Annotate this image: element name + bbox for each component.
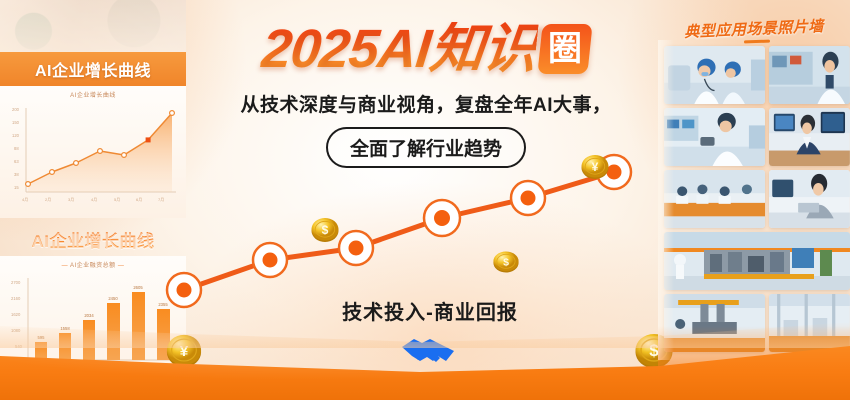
- svg-text:2月: 2月: [45, 197, 51, 202]
- svg-text:$: $: [503, 257, 509, 269]
- photo-hospital-device[interactable]: [664, 108, 765, 166]
- svg-text:200: 200: [12, 107, 20, 112]
- photo-medical-team[interactable]: [664, 46, 765, 104]
- svg-text:38: 38: [14, 172, 19, 177]
- svg-text:3月: 3月: [68, 197, 74, 202]
- svg-text:1620: 1620: [11, 312, 21, 317]
- headline-subtitle: 从技术深度与商业视角，复盘全年AI大事，: [186, 90, 666, 117]
- svg-text:5月: 5月: [114, 197, 120, 202]
- svg-text:63: 63: [14, 159, 19, 164]
- chart-card-line-body: AI企业增长曲线 200150 12088 6338: [0, 86, 186, 218]
- coin-dollar-1: $: [310, 215, 340, 245]
- chart-card-line-header: AI企业增长曲线: [0, 52, 186, 86]
- main-growth-line-chart: [160, 150, 700, 310]
- svg-text:¥: ¥: [592, 160, 599, 174]
- left-line-chart-svg: 200150 12088 6338 15 4月2月 3月4月 5月6月 7月: [6, 100, 180, 210]
- background-photo-strip: [0, 0, 186, 52]
- caption-text: 技术投入-商业回报: [250, 296, 610, 325]
- left-chart-column: AI企业增长曲线 AI企业增长曲线 200150: [0, 0, 186, 372]
- photo-wall-underline: [744, 40, 770, 44]
- title-main-text: 2025AI知识: [259, 22, 539, 76]
- coin-dollar-2: $: [492, 248, 520, 276]
- photo-open-office[interactable]: [664, 170, 765, 228]
- chart-card-line-title: AI企业增长曲线: [35, 57, 151, 81]
- chart-card-line-caption: AI企业增长曲线: [6, 90, 180, 99]
- photo-desk-work[interactable]: [769, 170, 850, 228]
- photo-office-analyst[interactable]: [769, 108, 850, 166]
- page-title: 2025AI知识 圈: [186, 22, 666, 76]
- photo-lab-engineer[interactable]: [769, 46, 850, 104]
- title-badge: 圈: [537, 24, 592, 74]
- svg-text:6月: 6月: [136, 197, 142, 202]
- headline-block: 2025AI知识 圈 从技术深度与商业视角，复盘全年AI大事， 全面了解行业趋势: [186, 22, 666, 168]
- coin-yen-2: ¥: [580, 152, 610, 182]
- svg-text:2605: 2605: [133, 285, 143, 290]
- chart-card-bar-caption: AI企业融资总额: [6, 260, 180, 269]
- svg-text:88: 88: [14, 146, 19, 151]
- chart-card-bar-title: AI企业增长曲线: [32, 227, 155, 252]
- handshake-icon: [398, 330, 458, 370]
- svg-text:2034: 2034: [84, 313, 94, 318]
- svg-text:4月: 4月: [91, 197, 97, 202]
- chart-card-bar-header: AI企业增长曲线: [0, 222, 186, 256]
- svg-text:150: 150: [12, 120, 20, 125]
- svg-text:2160: 2160: [11, 296, 21, 301]
- photo-smart-factory[interactable]: [664, 232, 850, 290]
- svg-text:2450: 2450: [108, 296, 118, 301]
- svg-text:2700: 2700: [11, 280, 21, 285]
- svg-text:$: $: [322, 223, 329, 237]
- photo-wall-title: 典型应用场景照片墙: [658, 14, 850, 43]
- svg-text:120: 120: [12, 133, 20, 138]
- svg-text:4月: 4月: [22, 197, 28, 202]
- chart-card-line: AI企业增长曲线 AI企业增长曲线 200150: [0, 52, 186, 218]
- title-badge-text: 圈: [548, 32, 582, 66]
- main-growth-line-svg: [160, 150, 700, 310]
- svg-text:15: 15: [14, 185, 19, 190]
- promo-banner: AI企业增长曲线 AI企业增长曲线 200150: [0, 0, 850, 400]
